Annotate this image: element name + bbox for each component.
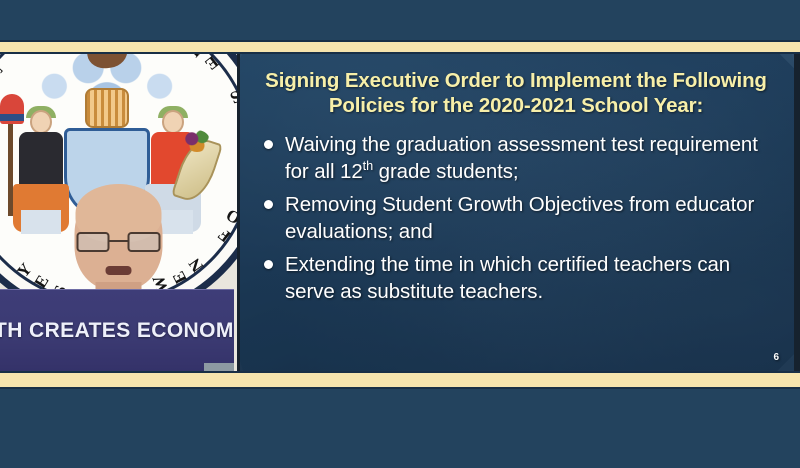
seal-helmet <box>85 88 129 128</box>
slide-title: Signing Executive Order to Implement the… <box>254 68 778 118</box>
broadcast-content-band: THE GREAT SEAL OF THE STATE OF NEW JERSE… <box>0 54 800 371</box>
bullet-text-1-pre: Waiving the graduation assessment test r… <box>285 133 758 183</box>
seal-ring-char: S <box>227 86 237 108</box>
ceres-head <box>162 110 184 134</box>
bullet-text-1-sup: th <box>363 158 373 173</box>
slide-bullet-list: Waiving the graduation assessment test r… <box>254 131 778 305</box>
lower-third-text: TH CREATES ECONOM <box>0 319 234 343</box>
speaker-mouth <box>106 266 132 275</box>
bullet-dot-icon <box>264 140 273 149</box>
bullet-text-1: Waiving the graduation assessment test r… <box>285 131 778 185</box>
bullet-text-2: Removing Student Growth Objectives from … <box>285 191 778 245</box>
bullet-dot-icon <box>264 200 273 209</box>
list-item: Waiving the graduation assessment test r… <box>254 131 778 185</box>
list-item: Removing Student Growth Objectives from … <box>254 191 778 245</box>
presentation-slide[interactable]: Signing Executive Order to Implement the… <box>237 54 800 371</box>
eyeglass-bridge <box>110 240 128 242</box>
eyeglasses-icon <box>77 232 161 252</box>
bullet-dot-icon <box>264 260 273 269</box>
slide-page-number: 6 <box>773 352 779 363</box>
bullet-text-1-post: grade students; <box>373 160 518 183</box>
eyeglass-lens-right <box>128 232 161 252</box>
slide-content: Signing Executive Order to Implement the… <box>240 54 794 371</box>
cornucopia-fruit <box>184 130 210 152</box>
broadcast-screen: THE GREAT SEAL OF THE STATE OF NEW JERSE… <box>0 0 800 468</box>
video-feed[interactable]: THE GREAT SEAL OF THE STATE OF NEW JERSE… <box>0 54 237 371</box>
lower-third-banner: TH CREATES ECONOM <box>0 289 234 371</box>
bullet-text-3: Extending the time in which certified te… <box>285 251 778 305</box>
frame-rule-top <box>0 40 800 54</box>
lower-third-chip <box>204 363 234 371</box>
liberty-robe <box>19 132 63 190</box>
liberty-head <box>30 110 52 134</box>
list-item: Extending the time in which certified te… <box>254 251 778 305</box>
liberty-cap-band <box>0 114 24 121</box>
eyeglass-lens-left <box>77 232 110 252</box>
frame-rule-bottom <box>0 371 800 389</box>
